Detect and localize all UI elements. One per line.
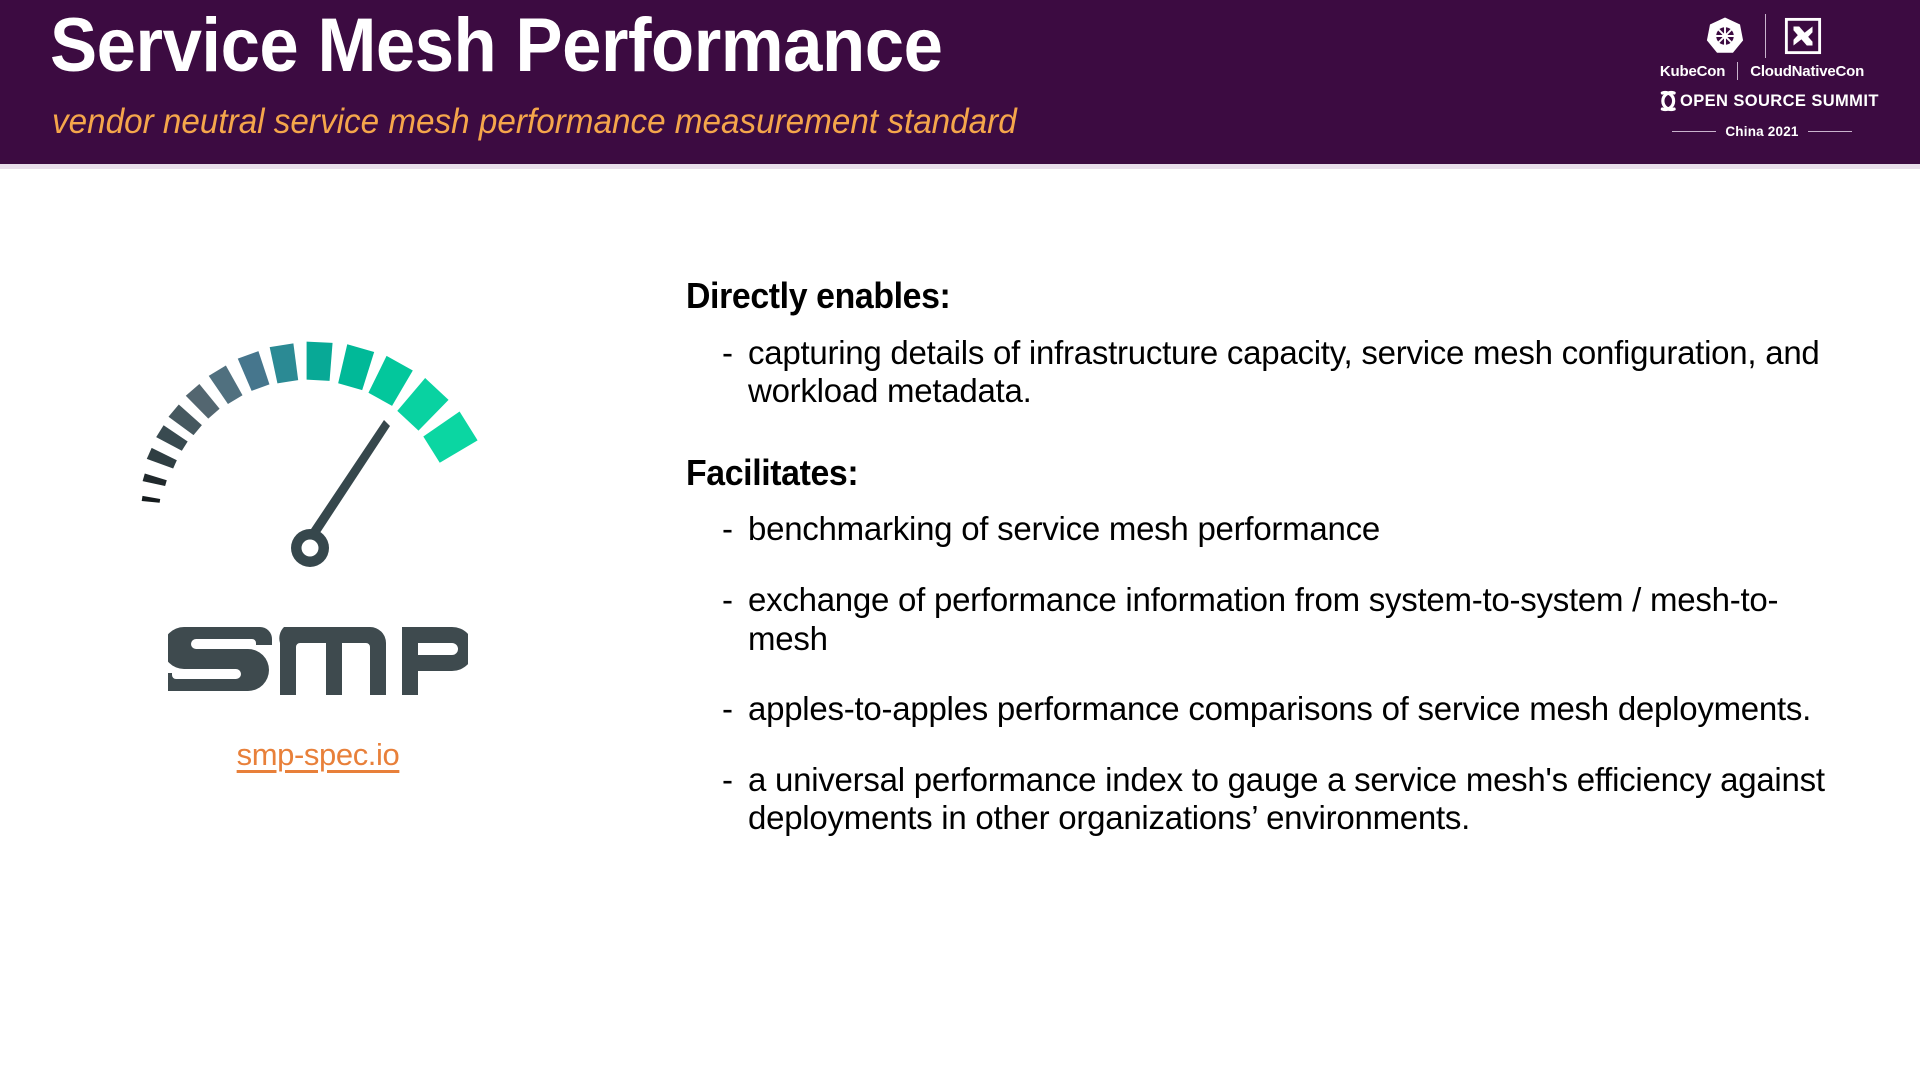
page-title: Service Mesh Performance — [50, 8, 942, 84]
bullet-text: apples-to-apples performance comparisons… — [748, 690, 1848, 729]
bullet-marker: - — [686, 581, 748, 620]
content-panel: Directly enables: - capturing details of… — [686, 276, 1876, 870]
kubecon-label: KubeCon — [1660, 63, 1725, 80]
conference-logo-icons — [1646, 12, 1878, 60]
smp-logo-block: smp-spec.io — [108, 320, 528, 773]
kubernetes-helm-icon — [1703, 14, 1747, 58]
conference-logo-names: KubeCon CloudNativeCon — [1646, 60, 1878, 82]
gauge-needle — [291, 420, 390, 567]
slide-root: Service Mesh Performance vendor neutral … — [0, 0, 1920, 1080]
smp-wordmark — [168, 612, 468, 717]
list-item: - apples-to-apples performance compariso… — [686, 690, 1876, 729]
speedometer-gauge-icon — [108, 320, 528, 620]
edition-label: China 2021 — [1725, 124, 1798, 139]
open-source-summit-row: OPEN SOURCE SUMMIT — [1646, 84, 1878, 118]
bullet-text: exchange of performance information from… — [748, 581, 1848, 658]
logo-divider — [1765, 14, 1766, 58]
list-item: - benchmarking of service mesh performan… — [686, 510, 1876, 549]
page-subtitle: vendor neutral service mesh performance … — [52, 104, 1017, 139]
bullet-marker: - — [686, 761, 748, 800]
list-item: - capturing details of infrastructure ca… — [686, 334, 1876, 411]
bullet-marker: - — [686, 334, 748, 373]
bullet-text: benchmarking of service mesh performance — [748, 510, 1848, 549]
edition-rule-right — [1808, 131, 1852, 132]
bullet-list-directly-enables: - capturing details of infrastructure ca… — [686, 334, 1876, 411]
open-source-summit-label: OPEN SOURCE SUMMIT — [1680, 92, 1879, 111]
smp-spec-link[interactable]: smp-spec.io — [108, 737, 528, 773]
header-bar: Service Mesh Performance vendor neutral … — [0, 0, 1920, 164]
edition-rule-left — [1672, 131, 1716, 132]
section-heading-facilitates: Facilitates: — [686, 453, 1805, 493]
header-underline — [0, 164, 1920, 169]
list-item: - a universal performance index to gauge… — [686, 761, 1876, 838]
cncf-square-icon — [1784, 17, 1822, 55]
section-heading-directly-enables: Directly enables: — [686, 276, 1805, 316]
bullet-text: a universal performance index to gauge a… — [748, 761, 1848, 838]
bullet-marker: - — [686, 510, 748, 549]
conference-logo: KubeCon CloudNativeCon OPEN SOURCE SUMMI… — [1646, 10, 1878, 150]
list-item: - exchange of performance information fr… — [686, 581, 1876, 658]
name-divider — [1737, 62, 1738, 80]
bullet-text: capturing details of infrastructure capa… — [748, 334, 1848, 411]
bullet-marker: - — [686, 690, 748, 729]
cloudnativecon-label: CloudNativeCon — [1750, 63, 1864, 80]
edition-row: China 2021 — [1646, 120, 1878, 142]
bullet-list-facilitates: - benchmarking of service mesh performan… — [686, 510, 1876, 838]
